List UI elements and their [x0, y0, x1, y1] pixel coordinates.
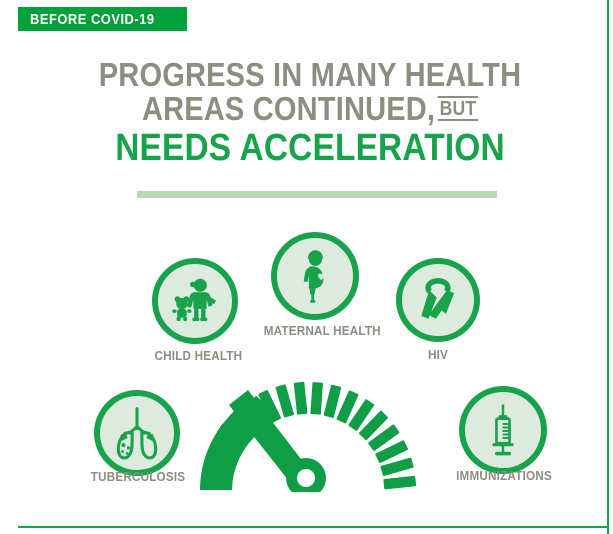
headline-line-1: PROGRESS IN MANY HEALTH	[90, 58, 530, 92]
lungs-icon	[108, 405, 166, 461]
headline-line-2-prefix: AREAS CONTINUED,	[142, 90, 435, 127]
speedometer-gauge	[196, 366, 420, 492]
headline-emphasis-but: BUT	[438, 96, 478, 121]
hiv-label: HIV	[411, 347, 465, 362]
syringe-icon	[475, 402, 531, 458]
banner-label: BEFORE COVID-19	[30, 11, 155, 28]
child-health-circle	[152, 258, 238, 344]
infographic-canvas: BEFORE COVID-19 PROGRESS IN MANY HEALTH …	[0, 0, 613, 534]
headline-block: PROGRESS IN MANY HEALTH AREAS CONTINUED,…	[60, 58, 560, 168]
maternal-health-label: MATERNAL HEALTH	[264, 323, 367, 338]
headline-line-2: AREAS CONTINUED,BUT	[90, 92, 530, 126]
child-health-label: CHILD HEALTH	[155, 348, 236, 363]
maternal-health-circle	[271, 232, 359, 320]
awareness-ribbon-icon	[411, 273, 465, 327]
hiv-circle	[396, 258, 480, 342]
tuberculosis-label: TUBERCULOSIS	[89, 469, 188, 484]
pregnant-woman-icon	[287, 248, 343, 304]
immunizations-label: IMMUNIZATIONS	[454, 468, 555, 483]
child-with-teddy-bear-icon	[167, 273, 223, 329]
tuberculosis-circle	[94, 390, 180, 476]
bottom-divider-rule	[18, 526, 608, 528]
headline-line-3: NEEDS ACCELERATION	[90, 129, 530, 168]
speedometer-gauge-icon	[196, 479, 420, 496]
before-covid-banner: BEFORE COVID-19	[18, 7, 187, 31]
immunizations-circle	[459, 386, 547, 474]
right-edge-rule	[607, 0, 609, 534]
headline-divider	[137, 191, 497, 198]
